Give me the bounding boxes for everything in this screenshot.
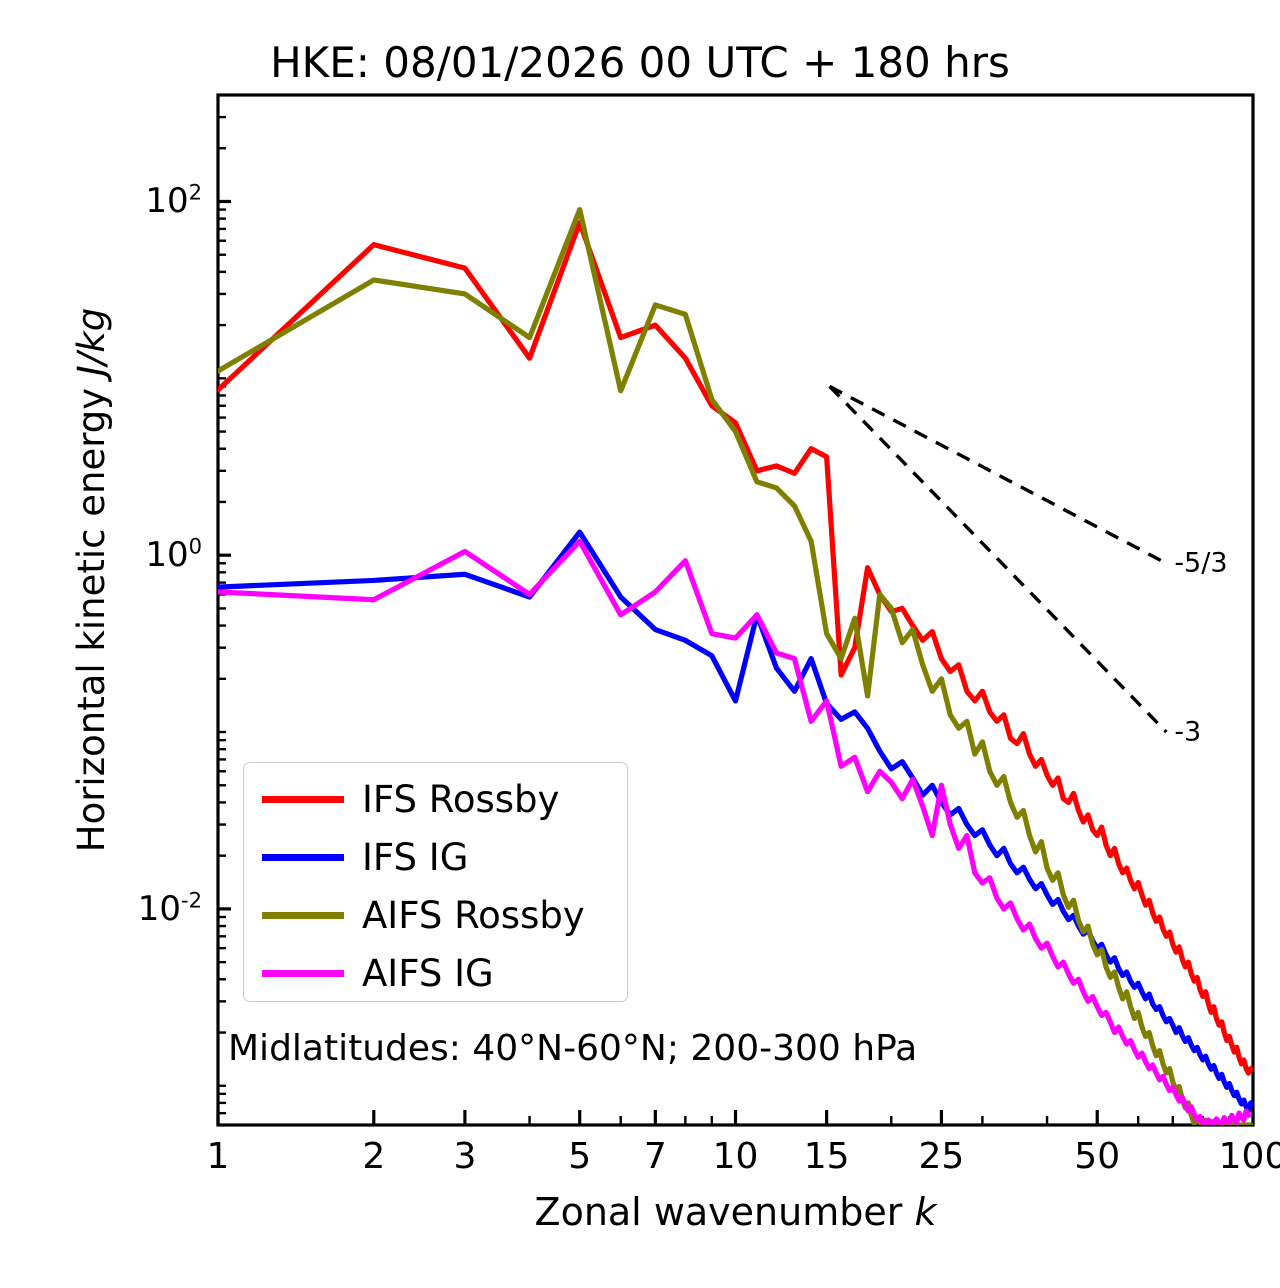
legend-label: AIFS IG — [362, 952, 494, 995]
legend-item-ifs-ig[interactable]: IFS IG — [244, 827, 627, 887]
slope-label-53: -5/3 — [1174, 548, 1227, 579]
legend-item-aifs-rossby[interactable]: AIFS Rossby — [244, 885, 627, 945]
legend-label: IFS Rossby — [362, 778, 559, 821]
legend-swatch-icon — [262, 912, 344, 919]
x-tick-label: 25 — [881, 1136, 1001, 1177]
y-tick-mantissa: 10 — [145, 535, 188, 575]
region-annotation: Midlatitudes: 40°N-60°N; 200-300 hPa — [228, 1028, 917, 1069]
y-tick-exponent: 2 — [189, 180, 202, 205]
y-tick-label: 100 — [80, 535, 202, 575]
legend-item-aifs-ig[interactable]: AIFS IG — [244, 943, 627, 1003]
legend-swatch-icon — [262, 854, 344, 861]
x-tick-label: 100 — [1193, 1136, 1280, 1177]
x-tick-label: 3 — [405, 1136, 525, 1177]
x-tick-label: 1 — [158, 1136, 278, 1177]
legend-swatch-icon — [262, 796, 344, 803]
legend-label: AIFS Rossby — [362, 894, 585, 937]
y-tick-mantissa: 10 — [145, 181, 188, 221]
y-tick-label: 10-2 — [80, 889, 202, 929]
slope-label-3: -3 — [1174, 717, 1201, 748]
chart-legend[interactable]: IFS RossbyIFS IGAIFS RossbyAIFS IG — [243, 762, 628, 1002]
y-tick-exponent: -2 — [181, 888, 202, 913]
y-tick-mantissa: 10 — [138, 889, 181, 929]
legend-swatch-icon — [262, 970, 344, 977]
x-tick-label: 50 — [1037, 1136, 1157, 1177]
legend-label: IFS IG — [362, 836, 468, 879]
legend-item-ifs-rossby[interactable]: IFS Rossby — [244, 769, 627, 829]
y-tick-label: 102 — [80, 181, 202, 221]
reference-slope-lines — [830, 386, 1167, 732]
y-tick-exponent: 0 — [189, 534, 202, 559]
x-tick-label: 15 — [767, 1136, 887, 1177]
hke-spectrum-figure: HKE: 08/01/2026 00 UTC + 180 hrs Horizon… — [0, 0, 1280, 1288]
